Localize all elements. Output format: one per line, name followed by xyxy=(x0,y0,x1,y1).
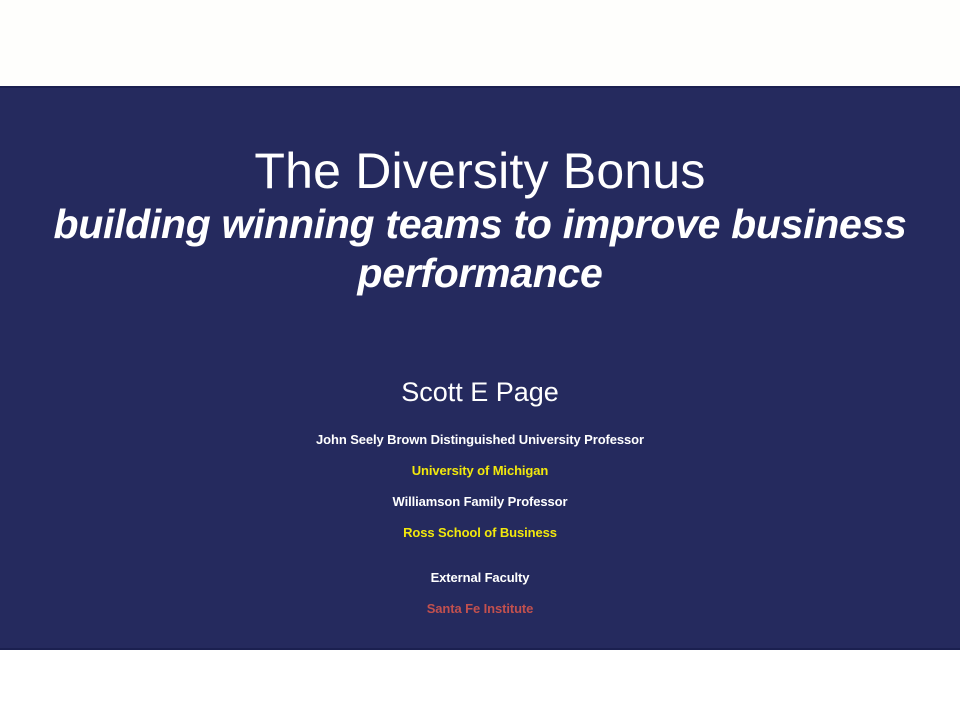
page-title: The Diversity Bonus xyxy=(0,142,960,200)
author-block: Scott E Page John Seely Brown Distinguis… xyxy=(0,376,960,624)
appointment-organization: University of Michigan xyxy=(0,455,960,486)
appointment-organization: Santa Fe Institute xyxy=(0,593,960,624)
appointment-organization: Ross School of Business xyxy=(0,517,960,548)
page-margin-top xyxy=(0,0,960,86)
title-block: The Diversity Bonus building winning tea… xyxy=(0,142,960,298)
appointment-university-of-michigan: John Seely Brown Distinguished Universit… xyxy=(0,424,960,486)
appointment-ross-school-of-business: Williamson Family Professor Ross School … xyxy=(0,486,960,548)
appointment-spacer xyxy=(0,548,960,562)
appointment-role: External Faculty xyxy=(0,562,960,593)
slide-canvas: The Diversity Bonus building winning tea… xyxy=(0,0,960,720)
page-subtitle: building winning teams to improve busine… xyxy=(0,200,960,298)
appointment-santa-fe-institute: External Faculty Santa Fe Institute xyxy=(0,562,960,624)
appointment-role: John Seely Brown Distinguished Universit… xyxy=(0,424,960,455)
slide-body: The Diversity Bonus building winning tea… xyxy=(0,86,960,650)
appointment-role: Williamson Family Professor xyxy=(0,486,960,517)
author-name: Scott E Page xyxy=(0,376,960,408)
page-margin-bottom xyxy=(0,650,960,720)
